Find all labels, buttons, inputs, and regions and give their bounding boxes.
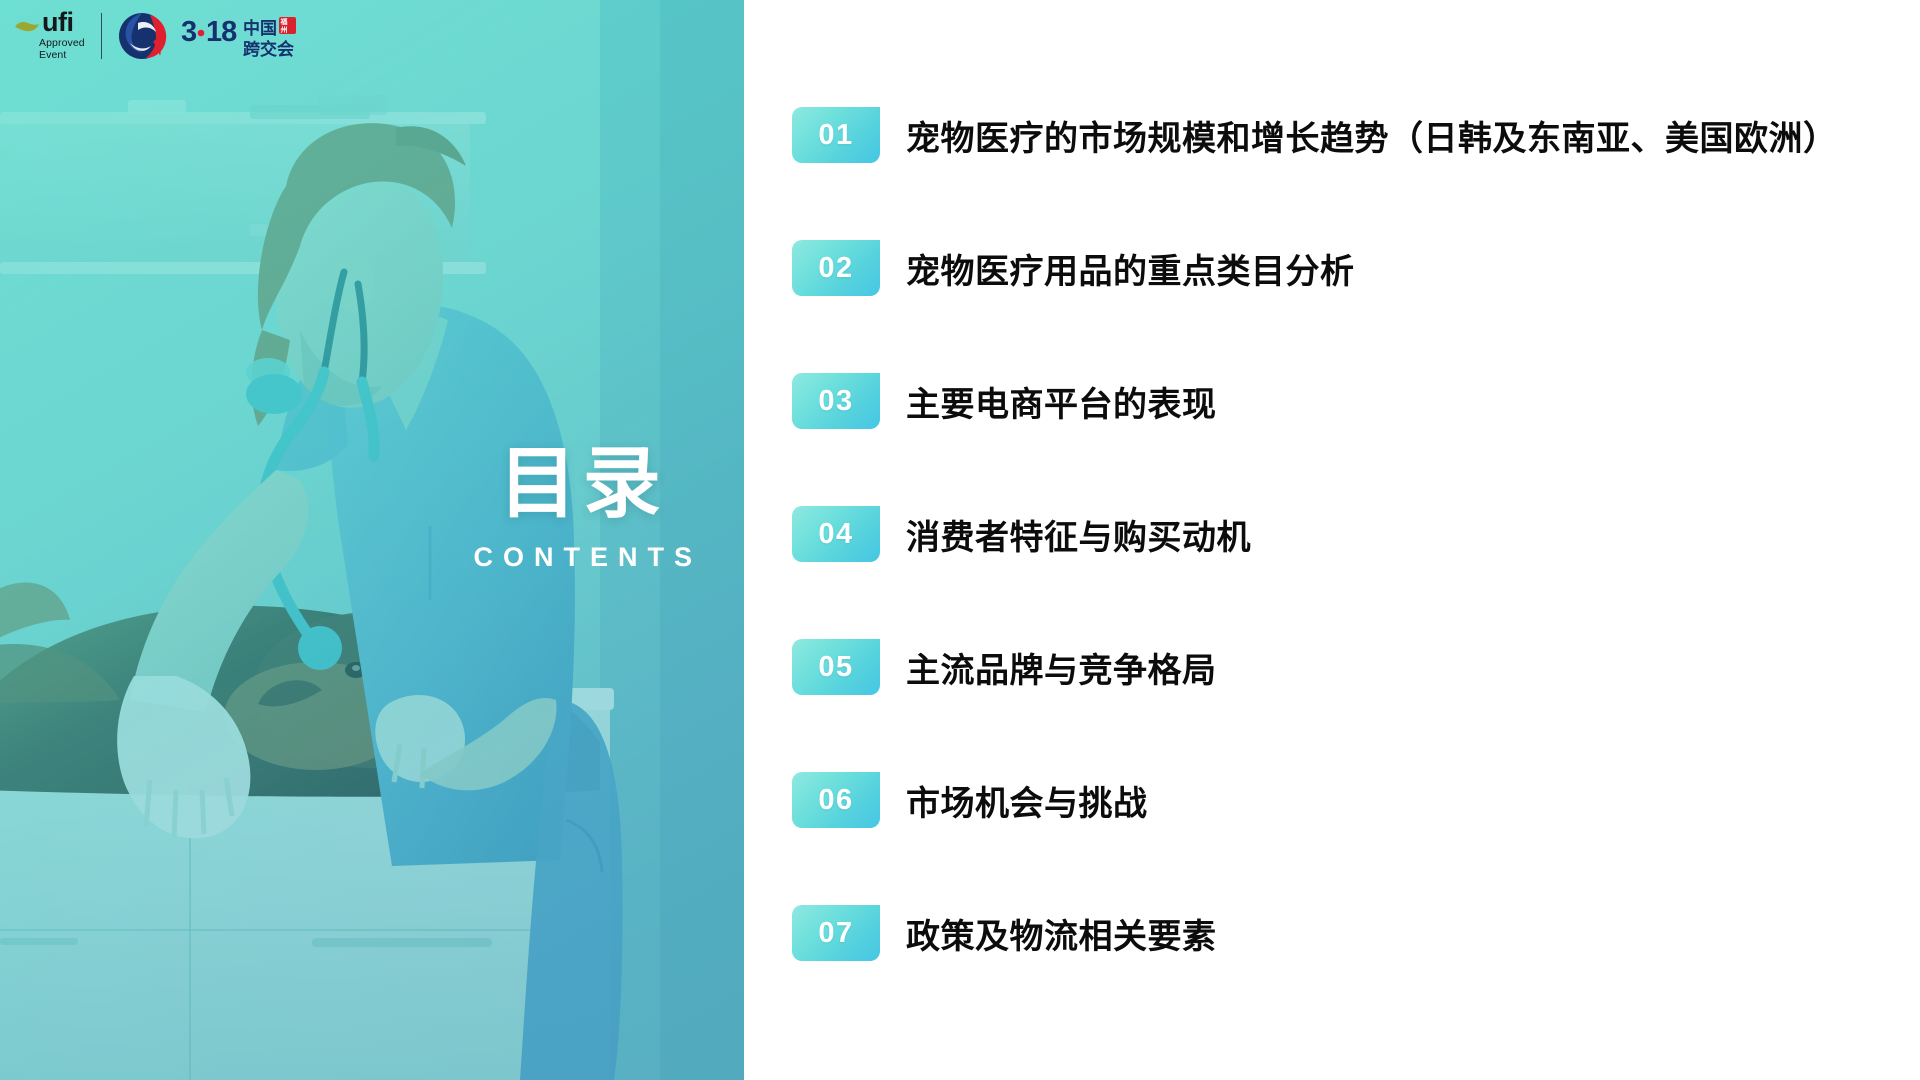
- item-label[interactable]: 宠物医疗用品的重点类目分析: [906, 244, 1355, 293]
- svg-text:州: 州: [279, 26, 287, 34]
- svg-text:跨交会: 跨交会: [243, 39, 294, 59]
- list-item[interactable]: 02 宠物医疗用品的重点类目分析: [792, 240, 1920, 296]
- page-title-cn: 目录: [464, 444, 703, 522]
- svg-text:18: 18: [206, 16, 237, 48]
- list-item[interactable]: 01 宠物医疗的市场规模和增长趋势（日韩及东南亚、美国欧洲）: [792, 107, 1920, 163]
- item-number-badge: 04: [792, 506, 880, 562]
- logo-divider: [101, 13, 102, 59]
- contents-list: 01 宠物医疗的市场规模和增长趋势（日韩及东南亚、美国欧洲） 02 宠物医疗用品…: [792, 0, 1920, 1080]
- item-number-badge: 03: [792, 373, 880, 429]
- vet-photo-panel: ufi Approved Event 3: [0, 0, 744, 1080]
- list-item[interactable]: 06 市场机会与挑战: [792, 772, 1920, 828]
- page-title: 目录 CONTENTS: [464, 444, 703, 571]
- item-number-badge: 06: [792, 772, 880, 828]
- ufi-approved-label: Approved: [39, 37, 85, 49]
- logo-bar: ufi Approved Event 3: [14, 10, 299, 62]
- expo-globe-icon: [116, 11, 172, 61]
- item-number-badge: 05: [792, 639, 880, 695]
- svg-text:3: 3: [181, 16, 197, 48]
- item-label[interactable]: 主要电商平台的表现: [906, 377, 1217, 426]
- expo-logo: 3 18 中国 跨交会 福 州: [116, 11, 299, 61]
- ufi-swoosh-icon: [14, 20, 40, 34]
- item-number-badge: 02: [792, 240, 880, 296]
- list-item[interactable]: 03 主要电商平台的表现: [792, 373, 1920, 429]
- item-number-badge: 01: [792, 107, 880, 163]
- expo-wordmark: 3 18 中国 跨交会 福 州: [181, 11, 299, 61]
- slide-root: ufi Approved Event 3: [0, 0, 1920, 1080]
- item-label[interactable]: 消费者特征与购买动机: [906, 510, 1251, 559]
- ufi-event-label: Event: [39, 49, 66, 61]
- svg-text:中国: 中国: [243, 18, 277, 38]
- list-item[interactable]: 07 政策及物流相关要素: [792, 905, 1920, 961]
- list-item[interactable]: 04 消费者特征与购买动机: [792, 506, 1920, 562]
- svg-text:福: 福: [279, 17, 287, 26]
- page-title-en: CONTENTS: [464, 544, 703, 571]
- item-label[interactable]: 政策及物流相关要素: [906, 909, 1217, 958]
- item-number-badge: 07: [792, 905, 880, 961]
- item-label[interactable]: 主流品牌与竞争格局: [906, 643, 1217, 692]
- ufi-approved-event-logo: ufi Approved Event: [14, 11, 85, 62]
- item-label[interactable]: 宠物医疗的市场规模和增长趋势（日韩及东南亚、美国欧洲）: [906, 111, 1838, 160]
- item-label[interactable]: 市场机会与挑战: [906, 776, 1148, 825]
- ufi-wordmark: ufi: [42, 11, 74, 34]
- list-item[interactable]: 05 主流品牌与竞争格局: [792, 639, 1920, 695]
